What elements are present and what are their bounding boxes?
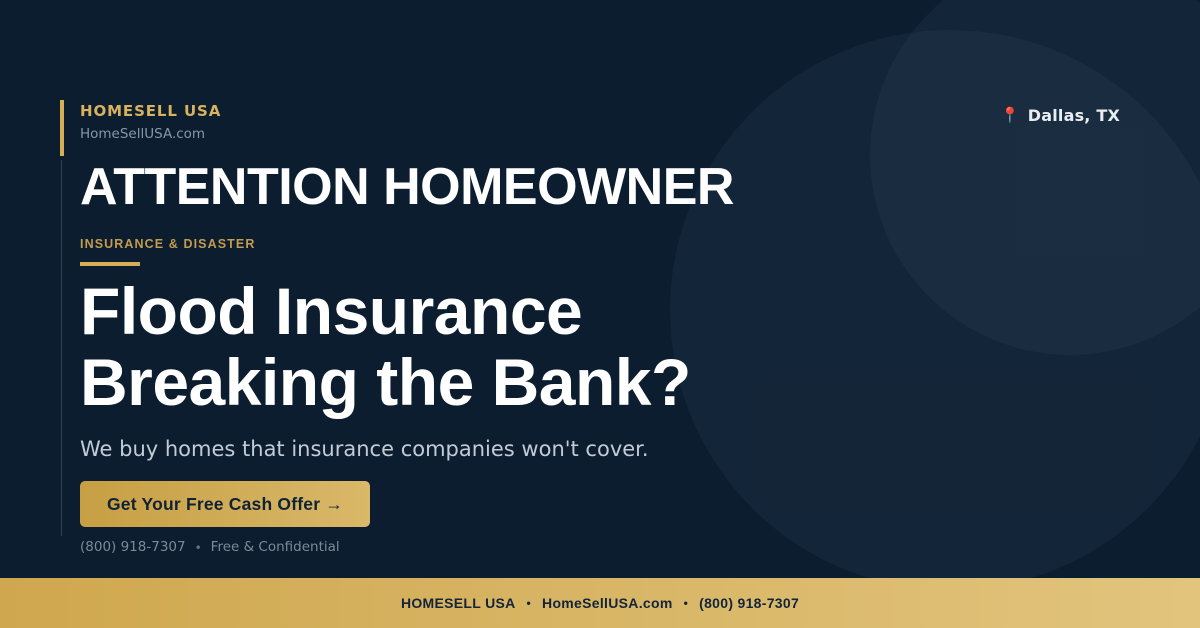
vertical-divider-line xyxy=(61,160,62,536)
brand-name: HOMESELL USA xyxy=(80,104,221,119)
ad-content: HOMESELL USA HomeSellUSA.com 📍 Dallas, T… xyxy=(80,0,1120,578)
trust-phone[interactable]: (800) 918-7307 xyxy=(80,541,186,555)
ad-creative: HOMESELL USA HomeSellUSA.com 📍 Dallas, T… xyxy=(0,0,1200,628)
footer-separator-2-icon: • xyxy=(684,596,689,610)
location-pin-icon: 📍 xyxy=(1001,108,1020,123)
footer-brand: HOMESELL USA xyxy=(401,595,516,611)
footer-phone[interactable]: (800) 918-7307 xyxy=(699,595,799,611)
headline-line-1: Flood Insurance xyxy=(80,276,691,347)
brand-block: HOMESELL USA HomeSellUSA.com xyxy=(80,104,221,142)
footer-bar: HOMESELL USA • HomeSellUSA.com • (800) 9… xyxy=(0,578,1200,628)
footer-separator-1-icon: • xyxy=(527,596,532,610)
brand-website: HomeSellUSA.com xyxy=(80,128,221,142)
brand-row: HOMESELL USA HomeSellUSA.com 📍 Dallas, T… xyxy=(80,104,1120,142)
location-badge: 📍 Dallas, TX xyxy=(1001,106,1120,125)
trust-note: Free & Confidential xyxy=(211,541,340,555)
kicker-underline xyxy=(80,262,140,266)
headline: Flood Insurance Breaking the Bank? xyxy=(80,276,691,417)
footer-content: HOMESELL USA • HomeSellUSA.com • (800) 9… xyxy=(401,595,799,611)
footer-website[interactable]: HomeSellUSA.com xyxy=(542,595,673,611)
subheadline: We buy homes that insurance companies wo… xyxy=(80,436,649,463)
gold-accent-bar xyxy=(60,100,64,156)
cta-button[interactable]: Get Your Free Cash Offer → xyxy=(80,481,370,527)
attention-heading: ATTENTION HOMEOWNER xyxy=(80,160,734,215)
headline-line-2: Breaking the Bank? xyxy=(80,347,691,418)
trust-separator-icon: • xyxy=(195,542,202,554)
trust-line: (800) 918-7307 • Free & Confidential xyxy=(80,541,340,555)
category-kicker: INSURANCE & DISASTER xyxy=(80,238,256,251)
location-label: Dallas, TX xyxy=(1028,106,1120,125)
